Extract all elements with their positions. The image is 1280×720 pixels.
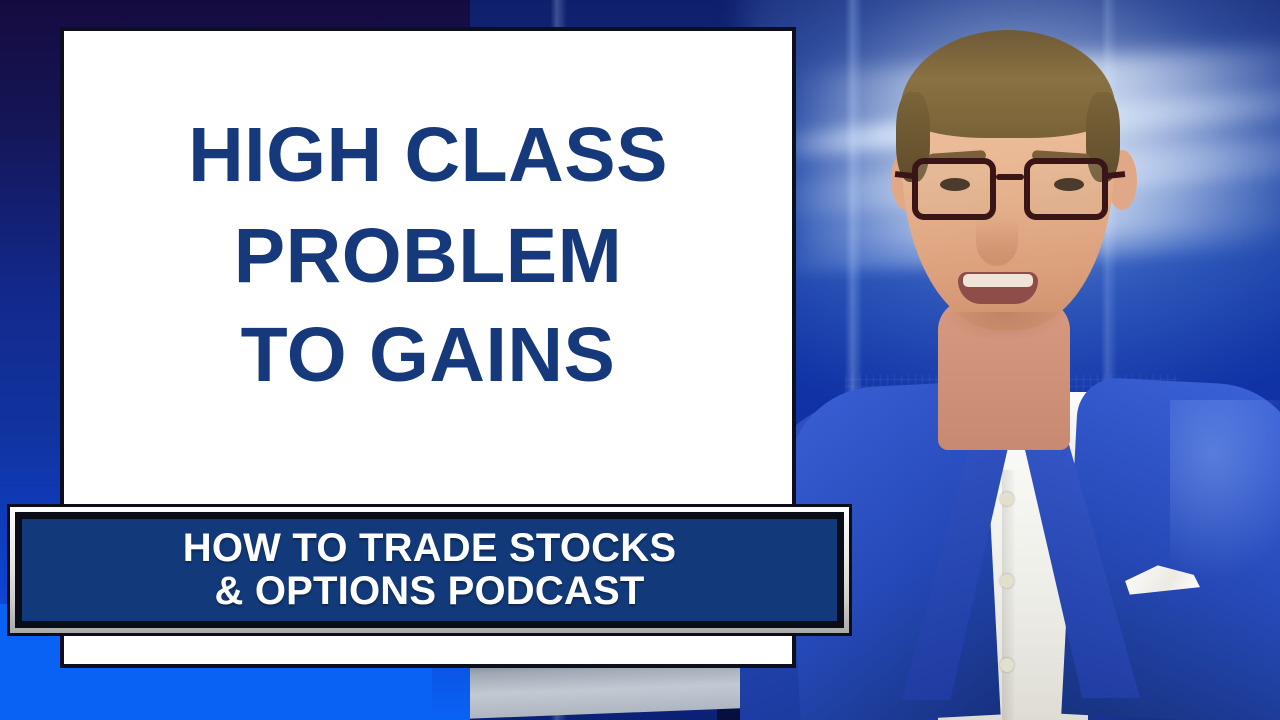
title-line-1: HIGH CLASS bbox=[82, 117, 774, 194]
teeth bbox=[963, 274, 1033, 287]
shirt-button bbox=[1000, 574, 1014, 588]
shirt-button bbox=[1000, 658, 1014, 672]
banner-line-2: & OPTIONS PODCAST bbox=[183, 570, 676, 613]
eyeglass-bridge bbox=[996, 174, 1024, 180]
shirt-placket bbox=[1002, 470, 1014, 720]
hair bbox=[900, 30, 1116, 138]
eye-right bbox=[1054, 178, 1084, 191]
podcast-banner-text: HOW TO TRADE STOCKS & OPTIONS PODCAST bbox=[183, 527, 676, 613]
thumbnail-canvas: HIGH CLASS PROBLEM TO GAINS HOW TO TRADE… bbox=[0, 0, 1280, 720]
eyeglass-lens-right bbox=[1024, 158, 1108, 220]
nose bbox=[976, 218, 1018, 266]
title-heading: HIGH CLASS PROBLEM TO GAINS bbox=[64, 117, 792, 394]
eye-left bbox=[940, 178, 970, 191]
shirt-button bbox=[1000, 492, 1014, 506]
title-line-3: TO GAINS bbox=[82, 317, 774, 394]
eyeglass-lens-left bbox=[912, 158, 996, 220]
chin-shadow bbox=[940, 312, 1068, 342]
mouth bbox=[958, 272, 1038, 304]
title-line-2: PROBLEM bbox=[82, 218, 774, 295]
eyeglasses-icon bbox=[912, 158, 1108, 224]
shoulder-highlight bbox=[1170, 400, 1280, 580]
podcast-banner-inner: HOW TO TRADE STOCKS & OPTIONS PODCAST bbox=[15, 512, 844, 628]
podcast-banner: HOW TO TRADE STOCKS & OPTIONS PODCAST bbox=[7, 504, 852, 636]
banner-line-1: HOW TO TRADE STOCKS bbox=[183, 527, 676, 570]
